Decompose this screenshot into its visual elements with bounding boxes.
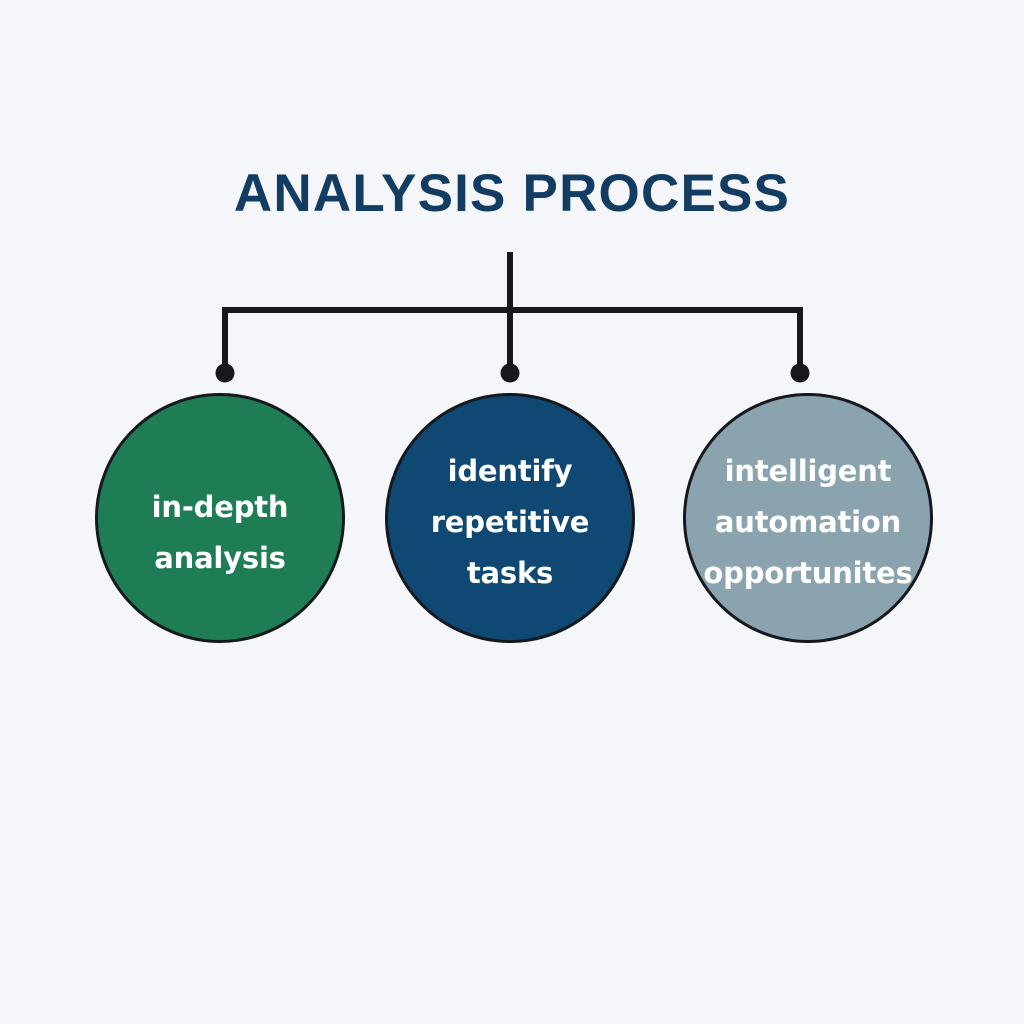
- node-label: intelligent automation opportunites: [686, 446, 930, 599]
- node-label: identify repetitive tasks: [388, 446, 632, 599]
- connector-dot-center: [501, 364, 520, 383]
- page-title: ANALYSIS PROCESS: [0, 163, 1024, 225]
- connector-dot-left: [216, 364, 235, 383]
- node-identify-repetitive-tasks[interactable]: identify repetitive tasks: [385, 393, 635, 643]
- node-intelligent-automation-opportunites[interactable]: intelligent automation opportunites: [683, 393, 933, 643]
- analysis-process-diagram: ANALYSIS PROCESS in-depth analysis ident…: [0, 0, 1024, 1024]
- node-label: in-depth analysis: [98, 482, 342, 584]
- connector-dot-right: [791, 364, 810, 383]
- node-in-depth-analysis[interactable]: in-depth analysis: [95, 393, 345, 643]
